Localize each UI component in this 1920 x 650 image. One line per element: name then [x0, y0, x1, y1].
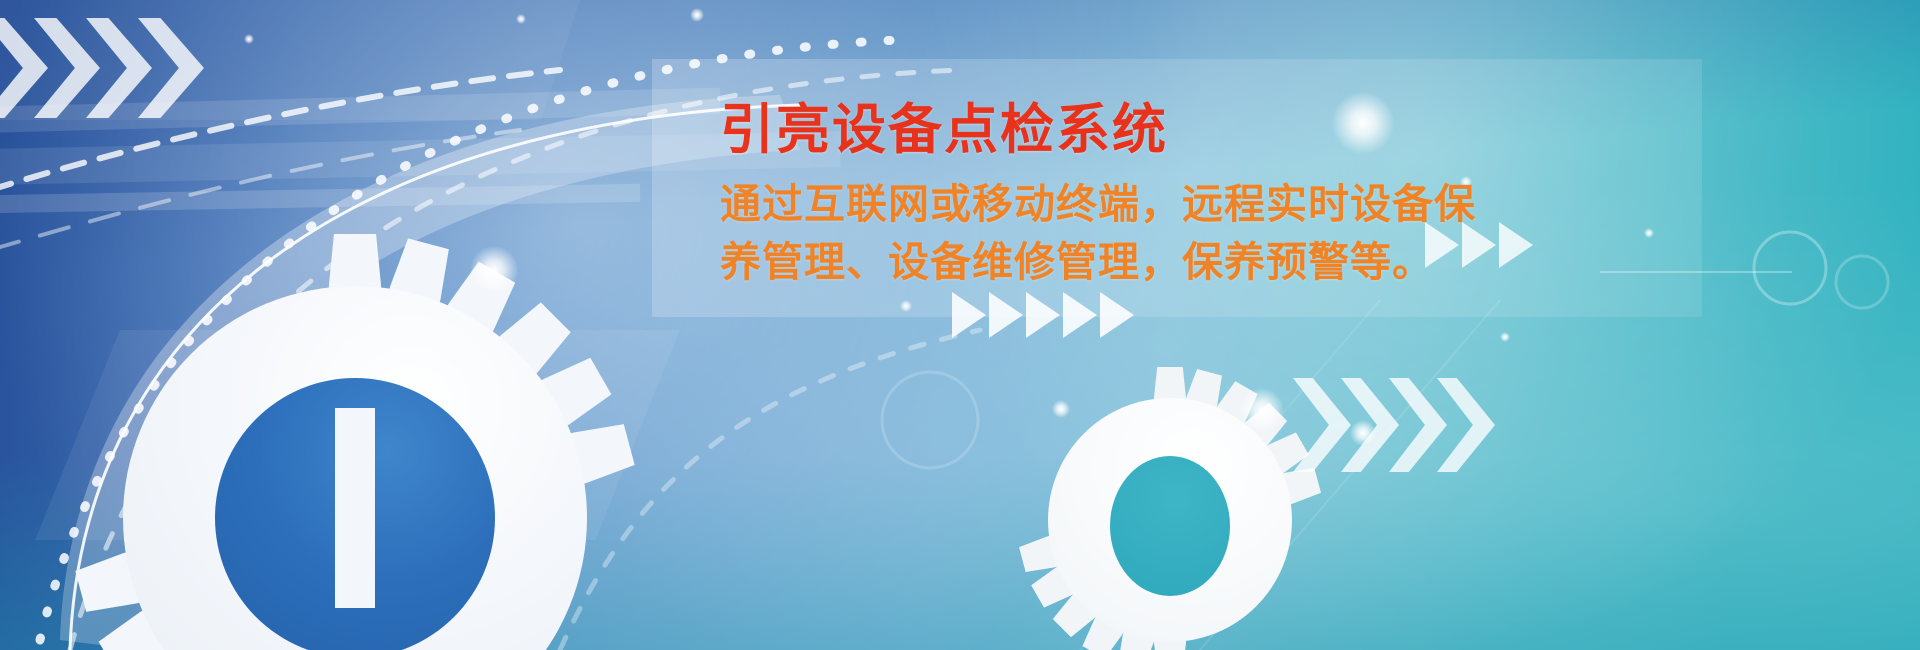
chevron-arrows-bottomright	[1293, 378, 1485, 472]
chevron-right-icon	[0, 18, 48, 118]
banner-subtitle: 通过互联网或移动终端，远程实时设备保养管理、设备维修管理，保养预警等。	[720, 175, 1510, 291]
sparkle	[516, 14, 526, 24]
gear-large-icon	[75, 238, 635, 650]
sparkle	[1500, 332, 1510, 342]
sparkle	[1240, 388, 1284, 432]
page-title: 引亮设备点检系统	[720, 103, 1702, 157]
chevron-arrows-topleft	[0, 18, 190, 118]
sparkle	[244, 34, 254, 44]
sparkle	[1052, 400, 1070, 418]
sparkle	[1350, 420, 1376, 446]
banner-text-panel: 引亮设备点检系统 通过互联网或移动终端，远程实时设备保养管理、设备维修管理，保养…	[652, 59, 1702, 317]
chevron-right-icon	[1293, 378, 1351, 472]
gear-spoke	[335, 408, 375, 608]
sparkle	[690, 8, 704, 22]
banner-root: 引亮设备点检系统 通过互联网或移动终端，远程实时设备保养管理、设备维修管理，保养…	[0, 0, 1920, 650]
sparkle	[470, 246, 518, 294]
gear-hub	[1110, 456, 1230, 596]
